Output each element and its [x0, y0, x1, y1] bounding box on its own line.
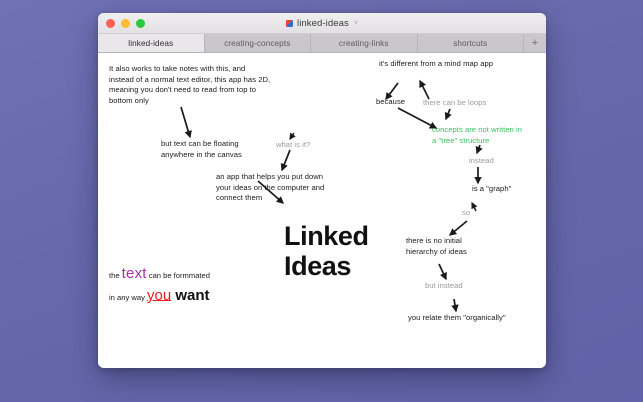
note-take-notes[interactable]: It also works to take notes with this, a…	[109, 64, 289, 106]
canvas-title[interactable]: Linked Ideas	[284, 221, 369, 281]
close-button[interactable]	[106, 19, 115, 28]
note-loops[interactable]: there can be loops	[423, 98, 486, 109]
window-titlebar[interactable]: linked-ideas ˅	[98, 13, 546, 34]
note-but-instead[interactable]: but instead	[425, 281, 463, 292]
note-is-a-graph[interactable]: is a "graph"	[472, 184, 511, 195]
note-formatting-demo[interactable]: the text can be formmated in any way you…	[109, 265, 210, 304]
app-window: linked-ideas ˅ linked-ideas creating-con…	[98, 13, 546, 368]
note-tree-structure[interactable]: concepts are not written in a "tree" str…	[432, 125, 536, 146]
desktop-background: linked-ideas ˅ linked-ideas creating-con…	[0, 0, 643, 402]
note-what-is-it[interactable]: what is it?	[276, 140, 310, 151]
minimize-button[interactable]	[121, 19, 130, 28]
document-icon	[286, 20, 293, 27]
tab-bar: linked-ideas creating-concepts creating-…	[98, 34, 546, 53]
formatting-word-you: you	[147, 287, 171, 304]
formatting-word-want: want	[171, 287, 209, 304]
note-because[interactable]: because	[376, 97, 405, 108]
note-instead[interactable]: instead	[469, 156, 494, 167]
note-no-hierarchy[interactable]: there is no initial hierarchy of ideas	[406, 236, 516, 257]
formatting-line1-pre: the	[109, 271, 122, 280]
window-title: linked-ideas	[297, 18, 349, 29]
note-organically[interactable]: you relate them "organically"	[408, 313, 506, 324]
tab-creating-links[interactable]: creating-links	[311, 34, 418, 52]
note-mind-map[interactable]: it's different from a mind map app	[379, 59, 493, 70]
formatting-line-2: in any way you want	[109, 287, 210, 304]
tab-creating-concepts[interactable]: creating-concepts	[205, 34, 312, 52]
window-title-group: linked-ideas ˅	[98, 18, 546, 29]
note-an-app[interactable]: an app that helps you put down your idea…	[216, 172, 356, 204]
tab-linked-ideas[interactable]: linked-ideas	[98, 34, 205, 52]
add-tab-button[interactable]: +	[524, 34, 546, 52]
formatting-line-1: the text can be formmated	[109, 265, 210, 282]
chevron-down-icon[interactable]: ˅	[354, 20, 358, 27]
formatting-line1-post: can be formmated	[147, 271, 210, 280]
zoom-button[interactable]	[136, 19, 145, 28]
window-controls	[106, 19, 145, 28]
formatting-line2-pre: in any way	[109, 293, 147, 302]
note-so[interactable]: so	[462, 208, 470, 219]
note-floating-text[interactable]: but text can be floating anywhere in the…	[161, 139, 291, 160]
tab-shortcuts[interactable]: shortcuts	[418, 34, 525, 52]
idea-canvas[interactable]: It also works to take notes with this, a…	[98, 53, 546, 367]
formatting-word-text: text	[122, 265, 147, 282]
